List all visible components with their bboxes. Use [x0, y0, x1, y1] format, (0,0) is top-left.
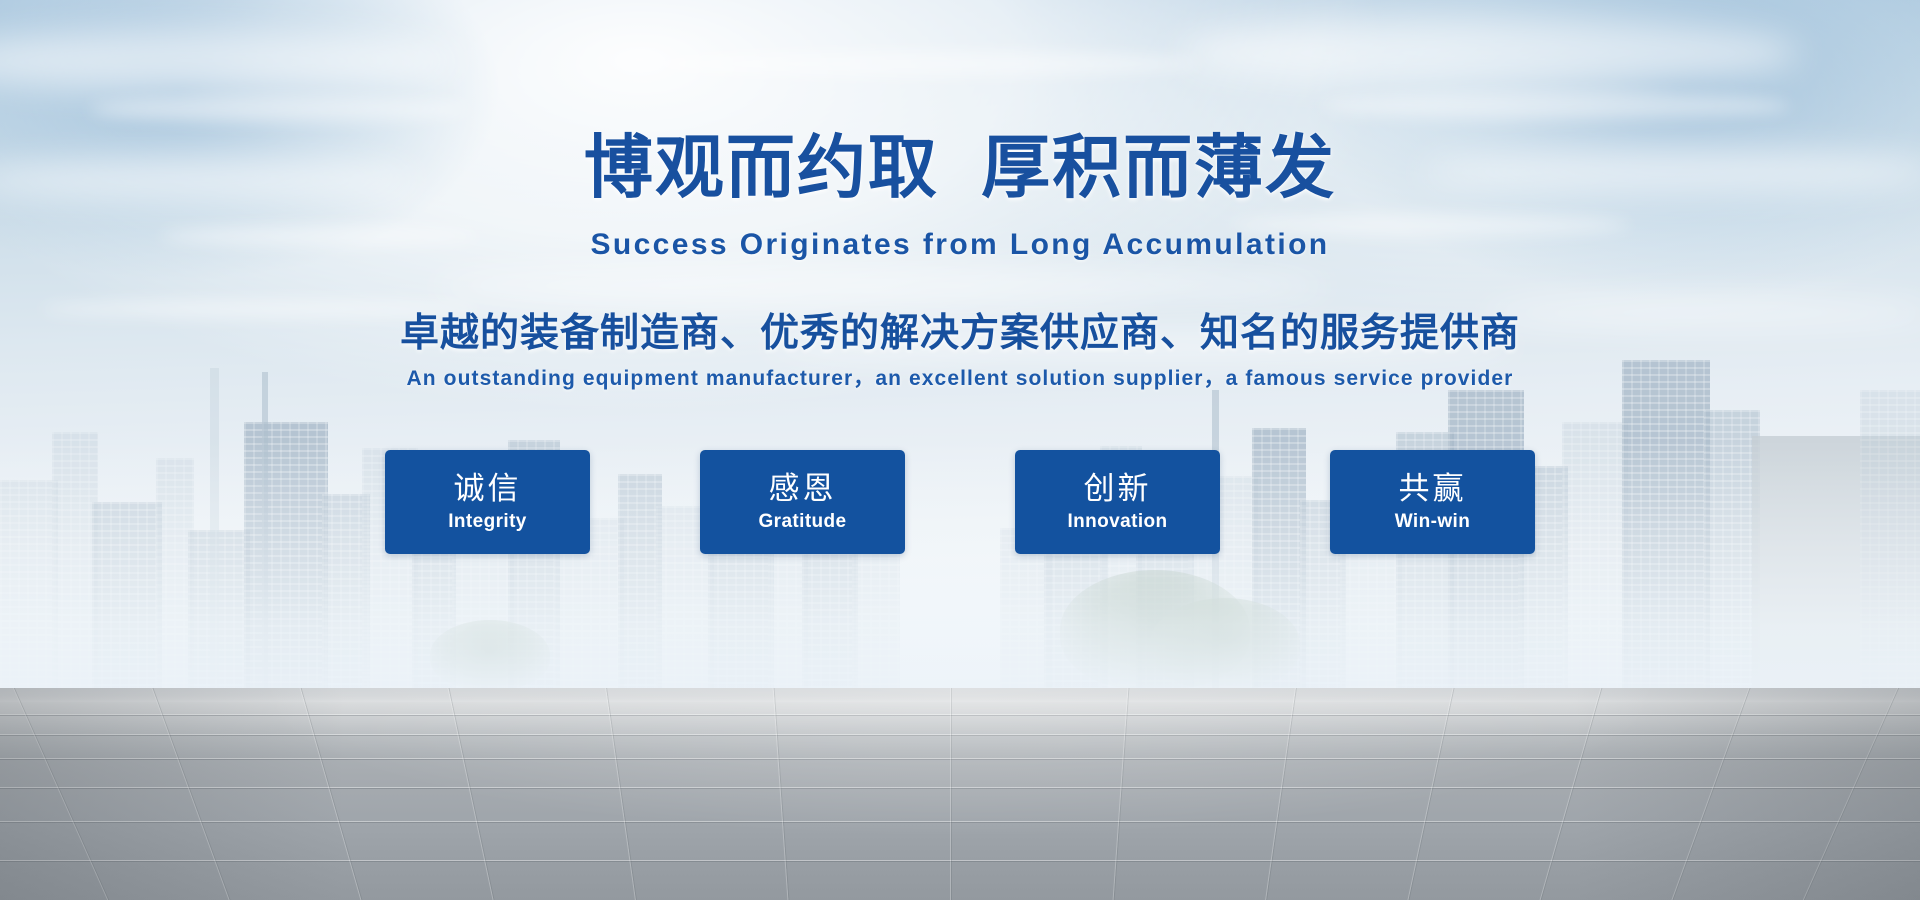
value-label-cn: 诚信 [454, 471, 522, 507]
subheadline-english: An outstanding equipment manufacturer，an… [0, 366, 1920, 392]
value-label-en: Integrity [448, 510, 527, 534]
headline-chinese: 博观而约取 厚积而薄发 [0, 129, 1920, 207]
headline-english: Success Originates from Long Accumulatio… [0, 228, 1920, 262]
value-card-integrity[interactable]: 诚信 Integrity [385, 450, 590, 554]
value-label-cn: 共赢 [1399, 471, 1467, 507]
core-values-list: 诚信 Integrity 感恩 Gratitude 创新 Innovation … [0, 450, 1920, 554]
banner-content: 博观而约取 厚积而薄发 Success Originates from Long… [0, 0, 1920, 900]
value-card-winwin[interactable]: 共赢 Win-win [1330, 450, 1535, 554]
value-label-en: Innovation [1067, 510, 1167, 534]
subheadline-chinese: 卓越的装备制造商、优秀的解决方案供应商、知名的服务提供商 [0, 311, 1920, 357]
value-label-en: Gratitude [758, 510, 846, 534]
value-label-en: Win-win [1395, 510, 1470, 534]
value-label-cn: 感恩 [769, 471, 837, 507]
value-card-gratitude[interactable]: 感恩 Gratitude [700, 450, 905, 554]
value-card-innovation[interactable]: 创新 Innovation [1015, 450, 1220, 554]
value-label-cn: 创新 [1084, 471, 1152, 507]
hero-banner: 博观而约取 厚积而薄发 Success Originates from Long… [0, 0, 1920, 900]
